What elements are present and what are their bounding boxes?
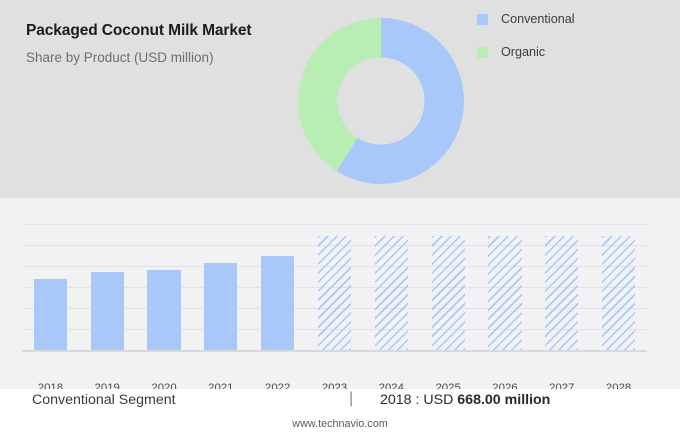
bar-slot [34,224,67,350]
bar-2021[interactable] [204,263,237,350]
bar-2028[interactable] [602,236,635,350]
legend-item-conventional[interactable]: Conventional [477,12,667,26]
legend-label-organic: Organic [501,45,545,59]
bar-slot [261,224,294,350]
bar-2018[interactable] [34,279,67,350]
bar-2025[interactable] [432,236,465,350]
title-block: Packaged Coconut Milk Market Share by Pr… [26,22,326,66]
bar-chart-plot-area: 2018201920202021202220232024202520262027… [22,224,647,350]
x-axis-line [22,350,647,352]
bar-slot [318,224,351,350]
bar-slot [545,224,578,350]
legend-swatch-conventional [477,14,488,25]
footer-value: 2018 : USD 668.00 million [380,392,550,408]
donut-chart [298,18,464,184]
legend-label-conventional: Conventional [501,12,575,26]
donut-hole [337,57,424,144]
bar-slot [204,224,237,350]
footer-divider: | [349,390,353,408]
legend-swatch-organic [477,47,488,58]
footer-segment-label: Conventional Segment [32,392,176,408]
bar-2024[interactable] [375,236,408,350]
bar-slot [432,224,465,350]
bar-2026[interactable] [488,236,521,350]
bar-chart-panel: 2018201920202021202220232024202520262027… [0,198,680,389]
footer-url: www.technavio.com [0,418,680,430]
page-subtitle: Share by Product (USD million) [26,50,326,66]
bar-slot [91,224,124,350]
donut-chart-svg [298,18,464,184]
bar-slot [375,224,408,350]
footer: Conventional Segment | 2018 : USD 668.00… [0,389,680,440]
bar-2020[interactable] [147,270,180,350]
legend-item-organic[interactable]: Organic [477,45,667,59]
bar-2022[interactable] [261,256,294,350]
page-title: Packaged Coconut Milk Market [26,22,326,41]
header-panel: Packaged Coconut Milk Market Share by Pr… [0,0,680,198]
footer-amount: 668.00 million [457,392,550,408]
footer-year-prefix: 2018 : USD [380,392,453,408]
bar-slot [147,224,180,350]
bar-slot [602,224,635,350]
bar-2027[interactable] [545,236,578,350]
bar-2019[interactable] [91,272,124,350]
bar-2023[interactable] [318,236,351,350]
bar-slot [488,224,521,350]
legend: Conventional Organic [477,12,667,78]
